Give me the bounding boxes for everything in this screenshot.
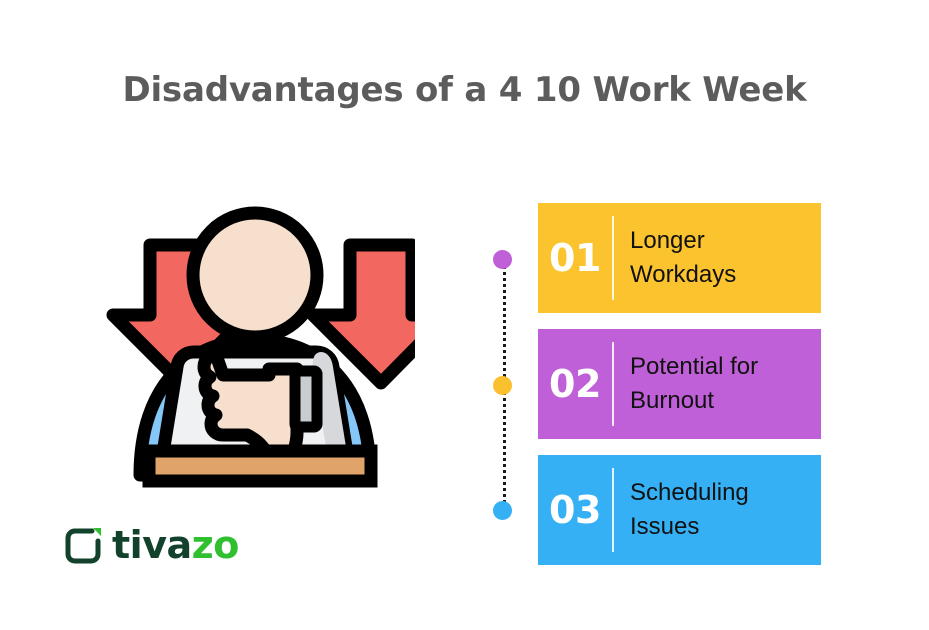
logo-text-tiva: tiva: [112, 523, 192, 567]
tivazo-logo-mark-icon: [62, 524, 104, 566]
desk-surface: [149, 451, 371, 481]
tivazo-logo-text: tivazo: [112, 526, 239, 564]
logo-text-zo: zo: [192, 523, 239, 567]
timeline-dot-3: [493, 501, 512, 520]
list-item-label: Scheduling Issues: [614, 476, 821, 544]
list-item-number: 01: [538, 239, 612, 277]
page-title: Disadvantages of a 4 10 Work Week: [0, 70, 929, 110]
timeline-dot-1: [493, 250, 512, 269]
infographic-page: Disadvantages of a 4 10 Work Week: [0, 0, 929, 630]
list-item-number: 03: [538, 491, 612, 529]
list-item-02[interactable]: 02 Potential for Burnout: [538, 329, 821, 439]
tivazo-logo[interactable]: tivazo: [62, 521, 239, 569]
illustration-person-at-laptop: [105, 185, 415, 495]
timeline-dot-2: [493, 376, 512, 395]
timeline-connector: [493, 250, 515, 525]
head-circle: [193, 213, 317, 337]
list-item-label: Potential for Burnout: [614, 350, 821, 418]
list-item-01[interactable]: 01 Longer Workdays: [538, 203, 821, 313]
list-item-label: Longer Workdays: [614, 224, 821, 292]
list-item-number: 02: [538, 365, 612, 403]
list-item-03[interactable]: 03 Scheduling Issues: [538, 455, 821, 565]
